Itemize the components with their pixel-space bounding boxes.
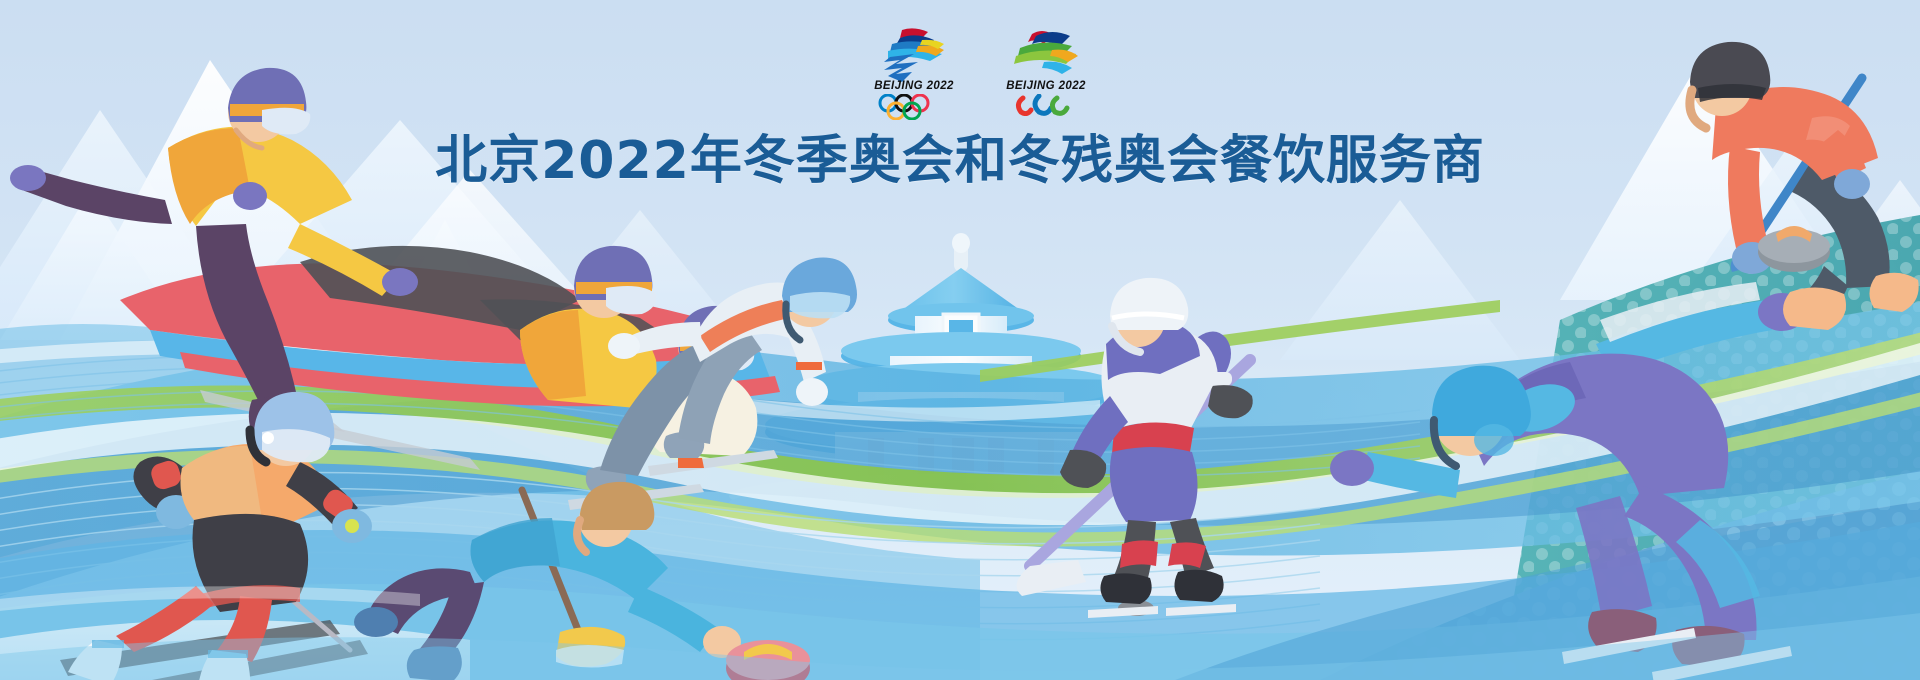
beijing-2022-banner: BEIJING 2022 BEIJING 20: [0, 0, 1920, 680]
paralympic-wordmark: BEIJING 2022: [994, 80, 1098, 92]
emblem-group: BEIJING 2022 BEIJING 20: [860, 24, 1100, 120]
paralympic-agitos-icon: [1013, 94, 1079, 116]
page-title: 北京2022年冬季奥会和冬残奥会餐饮服务商: [0, 118, 1920, 193]
olympic-wordmark: BEIJING 2022: [862, 80, 966, 92]
beijing-2022-olympic-emblem: BEIJING 2022: [862, 24, 966, 120]
olympic-rings-icon: [875, 94, 953, 120]
beijing-2022-paralympic-emblem: BEIJING 2022: [994, 24, 1098, 120]
olympic-swoosh-icon: [862, 24, 966, 84]
paralympic-swoosh-icon: [994, 24, 1098, 84]
